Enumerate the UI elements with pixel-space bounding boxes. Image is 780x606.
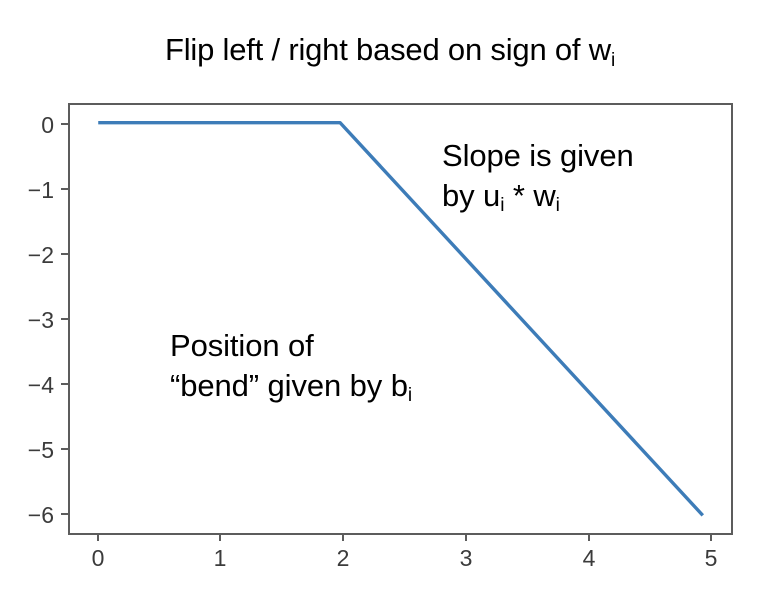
xtick-mark-2 xyxy=(342,534,344,541)
xtick-label-1: 1 xyxy=(200,545,240,572)
ytick-mark-3 xyxy=(61,318,68,320)
xtick-mark-4 xyxy=(588,534,590,541)
slope-annotation-line1: Slope is given xyxy=(442,136,634,176)
ytick-label-5: −5 xyxy=(10,437,54,464)
ytick-mark-2 xyxy=(61,253,68,255)
chart-title-subscript: i xyxy=(611,50,615,71)
chart-title-text: Flip left / right based on sign of w xyxy=(165,32,611,67)
ytick-label-4: −4 xyxy=(10,372,54,399)
bend-annotation-sub-b: i xyxy=(408,385,412,406)
bend-annotation: Position of “bend” given by bi xyxy=(170,326,412,405)
xtick-mark-5 xyxy=(710,534,712,541)
xtick-mark-1 xyxy=(219,534,221,541)
ytick-label-6: −6 xyxy=(10,502,54,529)
bend-annotation-line2-before: “bend” given by b xyxy=(170,368,408,403)
ytick-label-2: −2 xyxy=(10,242,54,269)
xtick-label-2: 2 xyxy=(323,545,363,572)
xtick-mark-3 xyxy=(465,534,467,541)
slope-annotation: Slope is given by ui * wi xyxy=(442,136,634,215)
ytick-mark-1 xyxy=(61,188,68,190)
ytick-mark-0 xyxy=(61,123,68,125)
slope-annotation-line2-before: by u xyxy=(442,178,500,213)
slope-annotation-line2-mid: * w xyxy=(504,178,555,213)
xtick-mark-0 xyxy=(97,534,99,541)
ytick-label-1: −1 xyxy=(10,177,54,204)
slope-annotation-sub-u: i xyxy=(500,195,504,216)
slope-annotation-line2: by ui * wi xyxy=(442,176,634,216)
xtick-label-0: 0 xyxy=(78,545,118,572)
chart-figure: Flip left / right based on sign of wi 0 … xyxy=(0,0,780,606)
ytick-mark-4 xyxy=(61,383,68,385)
ytick-label-0: 0 xyxy=(10,112,54,139)
xtick-label-3: 3 xyxy=(446,545,486,572)
bend-annotation-line1: Position of xyxy=(170,326,412,366)
xtick-label-5: 5 xyxy=(691,545,731,572)
ytick-mark-6 xyxy=(61,513,68,515)
bend-annotation-line2: “bend” given by bi xyxy=(170,366,412,406)
ytick-mark-5 xyxy=(61,448,68,450)
slope-annotation-sub-w: i xyxy=(556,195,560,216)
ytick-label-3: −3 xyxy=(10,307,54,334)
chart-title: Flip left / right based on sign of wi xyxy=(0,32,780,68)
xtick-label-4: 4 xyxy=(569,545,609,572)
